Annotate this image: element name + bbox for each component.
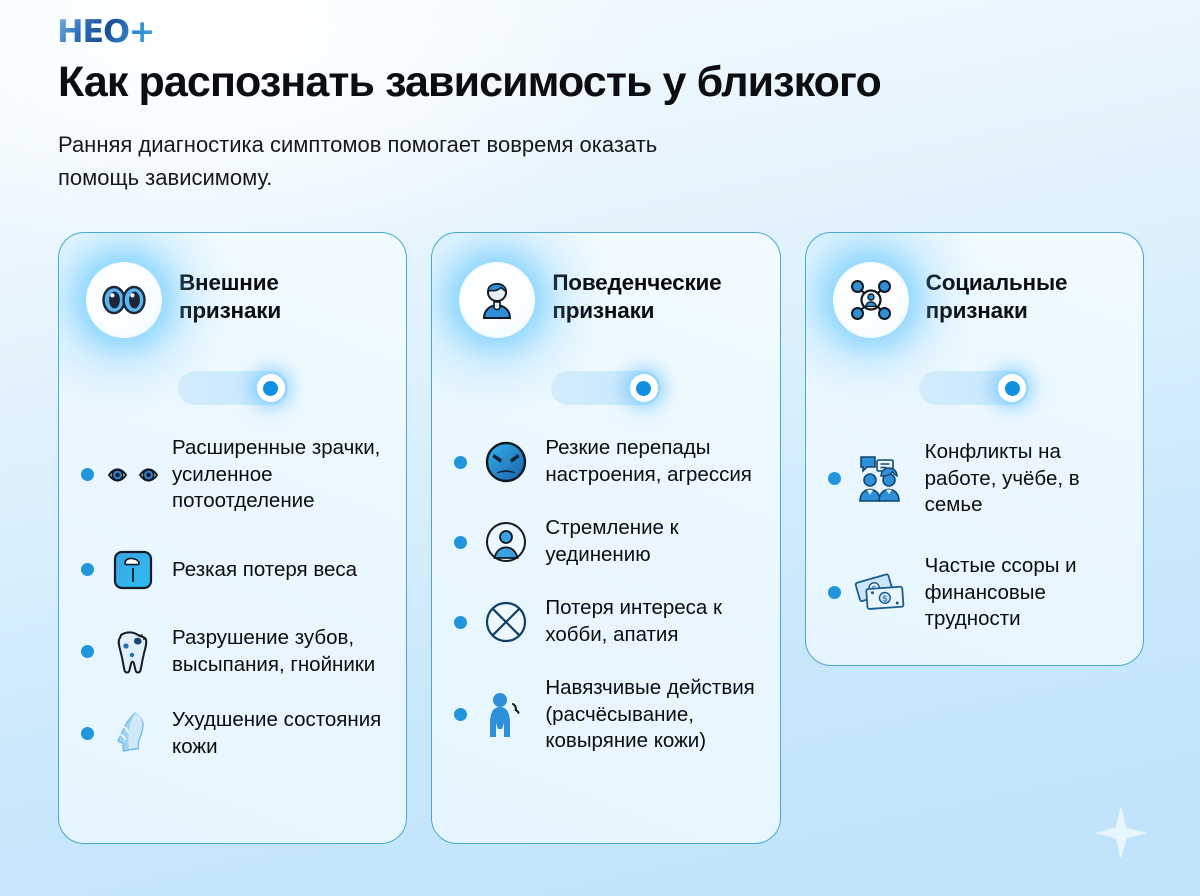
list-item[interactable]: Потеря интереса к хобби, апатия [454, 595, 757, 649]
list-item[interactable]: Резкие перепады настроения, агрессия [454, 435, 757, 489]
list-item-text: Потеря интереса к хобби, апатия [545, 595, 757, 648]
list-item-text: Резкие перепады настроения, агрессия [545, 435, 757, 488]
list-item[interactable]: Навязчивые действия (расчёсывание, ковыр… [454, 675, 757, 755]
list-item[interactable]: Резкая потеря веса [81, 543, 384, 597]
card-toggle-social[interactable] [919, 371, 1029, 405]
bullet-dot [828, 472, 841, 485]
card-header: Поведенческие признаки [454, 257, 757, 337]
bullet-dot [454, 456, 467, 469]
list-item-text: Частые ссоры и финансовые трудности [925, 553, 1121, 633]
toggle-knob[interactable] [257, 374, 285, 402]
toggle-wrap [828, 371, 1121, 405]
face-skin-icon [106, 707, 160, 761]
social-network-icon [834, 263, 908, 337]
toggle-knob[interactable] [998, 374, 1026, 402]
banknotes-icon: $ $ [853, 564, 913, 622]
card-toggle-behavioral[interactable] [551, 371, 661, 405]
bullet-dot [454, 708, 467, 721]
weight-scale-icon [106, 543, 160, 597]
toggle-knob[interactable] [630, 374, 658, 402]
card-behavioral-signs[interactable]: Поведенческие признаки [431, 232, 780, 844]
eyes-icon [87, 263, 161, 337]
list-item-text: Навязчивые действия (расчёсывание, ковыр… [545, 675, 757, 755]
page-subtitle-line-2: помощь зависимому. [58, 161, 978, 194]
list-item[interactable]: $ $ Частые ссоры и финансовые трудности [828, 553, 1121, 633]
list-item[interactable]: Ухудшение состояния кожи [81, 707, 384, 761]
bullet-dot [81, 727, 94, 740]
list-item-text: Расширенные зрачки, усиленное потоотделе… [172, 435, 384, 515]
page-subtitle-line-1: Ранняя диагностика симптомов помогает во… [58, 128, 978, 161]
list-item[interactable]: Разрушение зубов, высыпания, гнойники [81, 625, 384, 679]
bullet-dot [828, 586, 841, 599]
person-circle-icon [479, 515, 533, 569]
person-avatar-icon [460, 263, 534, 337]
list-item-text: Конфликты на работе, учёбе, в семье [925, 439, 1121, 519]
card-header: Внешние признаки [81, 257, 384, 337]
symptom-list: Резкие перепады настроения, агрессия Стр… [454, 435, 757, 755]
angry-face-icon [479, 435, 533, 489]
card-toggle-external[interactable] [178, 371, 288, 405]
bullet-dot [81, 645, 94, 658]
symptom-list: Конфликты на работе, учёбе, в семье $ [828, 439, 1121, 633]
crossed-circle-icon [479, 595, 533, 649]
list-item[interactable]: Расширенные зрачки, усиленное потоотделе… [81, 435, 384, 515]
symptom-list: Расширенные зрачки, усиленное потоотделе… [81, 435, 384, 761]
bullet-dot [81, 563, 94, 576]
card-external-signs[interactable]: Внешние признаки [58, 232, 407, 844]
bullet-dot [454, 536, 467, 549]
cards-row: Внешние признаки [58, 232, 1144, 844]
page-title: Как распознать зависимость у близкого [58, 58, 881, 107]
card-social-signs[interactable]: Социальные признаки [805, 232, 1144, 666]
list-item[interactable]: Конфликты на работе, учёбе, в семье [828, 439, 1121, 519]
card-title: Внешние признаки [179, 263, 384, 325]
toggle-wrap [454, 371, 757, 405]
bullet-dot [81, 468, 94, 481]
card-title: Поведенческие признаки [552, 263, 757, 325]
list-item-text: Резкая потеря веса [172, 557, 357, 584]
list-item-text: Ухудшение состояния кожи [172, 707, 384, 760]
dilated-pupils-icon [106, 448, 160, 502]
list-item[interactable]: Стремление к уединению [454, 515, 757, 569]
svg-text:$: $ [882, 593, 888, 603]
card-header: Социальные признаки [828, 257, 1121, 337]
brand-logo: НЕО+ [57, 14, 154, 50]
decaying-tooth-icon [106, 625, 160, 679]
conflict-people-icon [853, 450, 913, 508]
scratching-person-icon [479, 688, 533, 742]
toggle-wrap [81, 371, 384, 405]
page-subtitle: Ранняя диагностика симптомов помогает во… [58, 128, 978, 195]
bullet-dot [454, 616, 467, 629]
list-item-text: Разрушение зубов, высыпания, гнойники [172, 625, 384, 678]
card-title: Социальные признаки [926, 263, 1121, 325]
list-item-text: Стремление к уединению [545, 515, 757, 568]
